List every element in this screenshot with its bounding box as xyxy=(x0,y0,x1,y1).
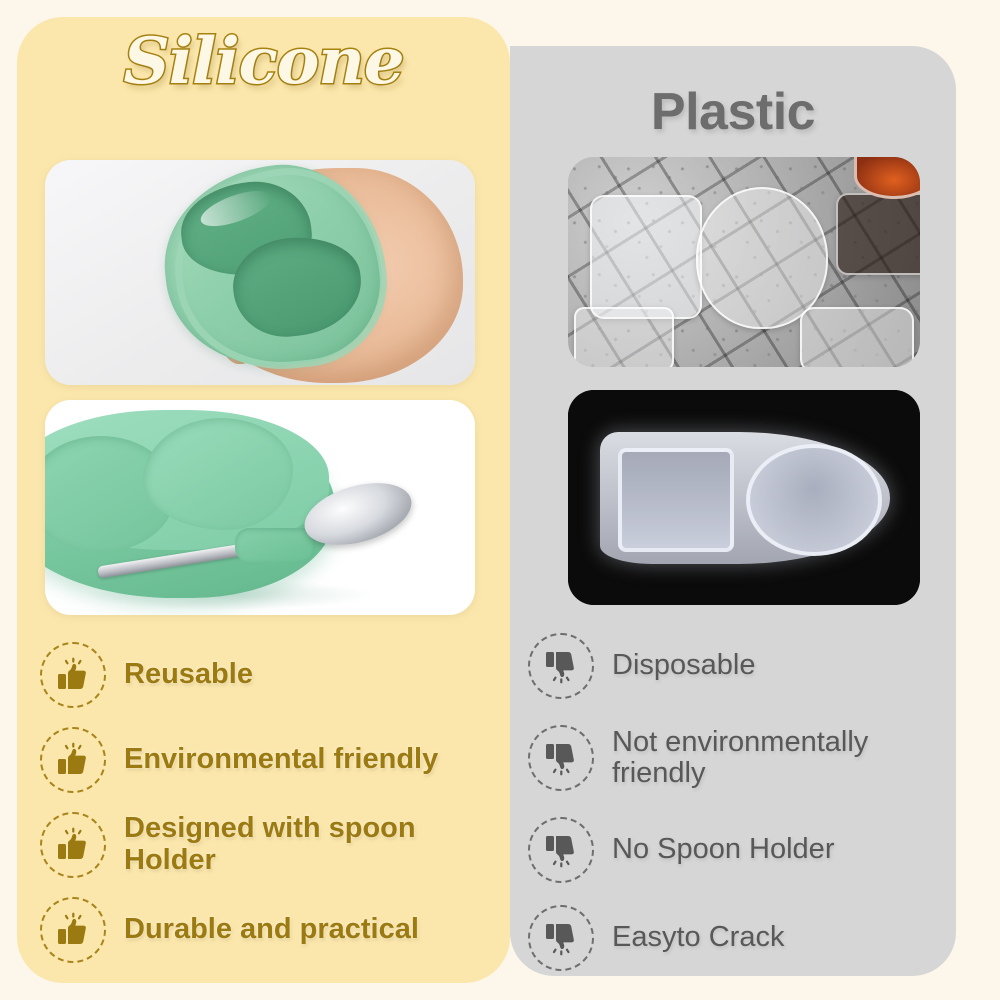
list-item: Durable and practical xyxy=(40,887,500,972)
plastic-container xyxy=(836,193,920,275)
feature-label: Environmental friendly xyxy=(124,744,438,775)
thumbs-up-icon xyxy=(40,812,106,878)
tray-compartment-square xyxy=(618,448,734,552)
plastic-photo-discarded-containers xyxy=(568,157,920,367)
list-item: Disposable xyxy=(528,622,948,710)
feature-label: Not environmentally friendly xyxy=(612,727,948,789)
plastic-container xyxy=(800,307,914,367)
feature-label: No Spoon Holder xyxy=(612,834,834,865)
list-item: Designed with spoon Holder xyxy=(40,802,500,887)
feature-label: Disposable xyxy=(612,650,755,681)
thumbs-up-icon xyxy=(40,642,106,708)
thumbs-down-icon xyxy=(528,633,594,699)
silicone-photo-spoon-holder xyxy=(45,400,475,615)
feature-label: Reusable xyxy=(124,659,253,690)
silicone-photo-squeeze xyxy=(45,160,475,385)
list-item: Reusable xyxy=(40,632,500,717)
silicone-feature-list: Reusable Environmental friendly xyxy=(40,632,500,972)
thumbs-down-icon xyxy=(528,725,594,791)
silicone-title: Silicone xyxy=(17,28,510,95)
list-item: Not environmentally friendly xyxy=(528,710,948,806)
feature-label: Designed with spoon Holder xyxy=(124,813,500,875)
spoon-holder-tab xyxy=(235,528,315,562)
thumbs-down-icon xyxy=(528,905,594,971)
tray-compartment-round xyxy=(746,444,882,556)
thumbs-up-icon xyxy=(40,727,106,793)
clear-plastic-tray xyxy=(600,432,890,564)
list-item: No Spoon Holder xyxy=(528,806,948,894)
plastic-container xyxy=(590,195,702,319)
list-item: Easyto Crack xyxy=(528,894,948,982)
infographic-canvas: Silicone xyxy=(0,0,1000,1000)
list-item: Environmental friendly xyxy=(40,717,500,802)
thumbs-down-icon xyxy=(528,817,594,883)
plastic-feature-list: Disposable Not environmentally friendly xyxy=(528,622,948,982)
feature-label: Easyto Crack xyxy=(612,922,784,953)
thumbs-up-icon xyxy=(40,897,106,963)
feature-label: Durable and practical xyxy=(124,914,419,945)
plastic-container xyxy=(574,307,674,367)
plastic-title: Plastic xyxy=(510,82,956,142)
plastic-photo-clear-tray xyxy=(568,390,920,605)
